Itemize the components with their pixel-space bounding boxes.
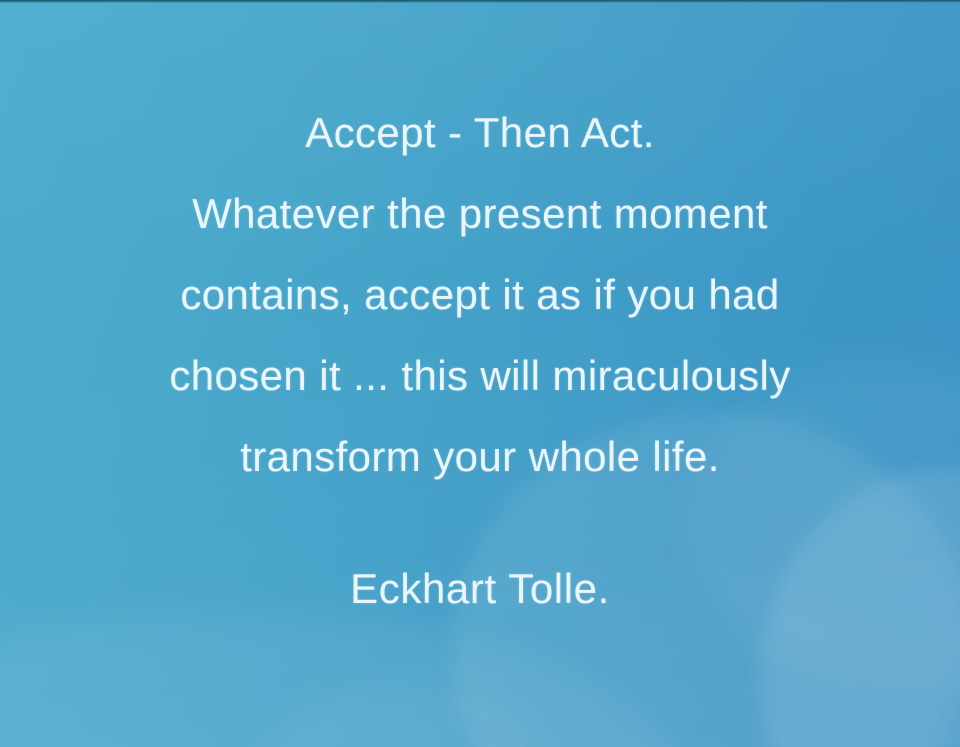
quote-line-1: Accept - Then Act. — [0, 92, 960, 173]
quote-line-5: transform your whole life. — [0, 416, 960, 497]
quote-block: Accept - Then Act. Whatever the present … — [0, 92, 960, 497]
quote-line-2: Whatever the present moment — [0, 173, 960, 254]
quote-attribution: Eckhart Tolle. — [0, 561, 960, 617]
quote-line-4: chosen it ... this will miraculously — [0, 335, 960, 416]
quote-line-3: contains, accept it as if you had — [0, 254, 960, 335]
quote-poster: Accept - Then Act. Whatever the present … — [0, 0, 960, 747]
poster-content: Accept - Then Act. Whatever the present … — [0, 0, 960, 747]
